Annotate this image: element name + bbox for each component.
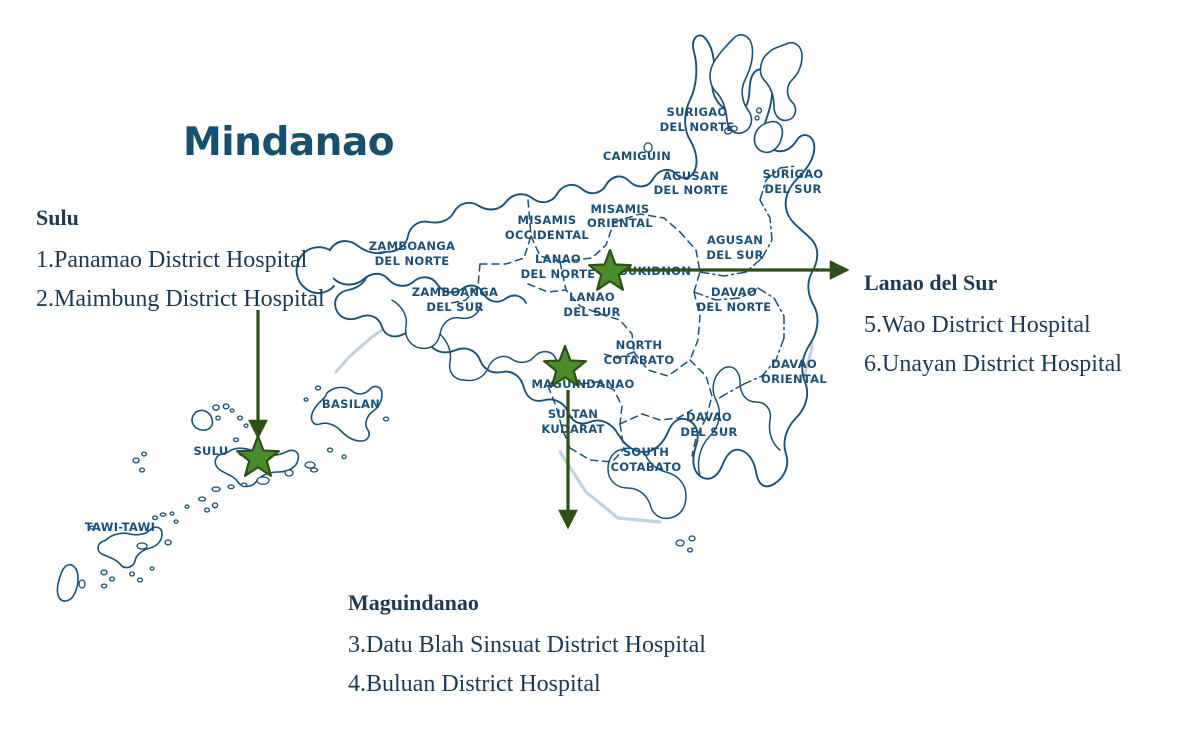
hospital-item: 2.Maimbung District Hospital: [36, 280, 325, 319]
map-infographic: .coast{fill:#ffffff;stroke:#1b5178;strok…: [0, 0, 1190, 747]
hospital-block-lanao-del-sur: Lanao del Sur 5.Wao District Hospital 6.…: [864, 268, 1122, 384]
hospital-item: 3.Datu Blah Sinsuat District Hospital: [348, 626, 706, 665]
sulu-star: [237, 436, 279, 476]
pointer-arrows: [258, 270, 847, 527]
block-header-lanao-del-sur: Lanao del Sur: [864, 268, 1122, 298]
hospital-item: 1.Panamao District Hospital: [36, 241, 325, 280]
block-header-maguindanao: Maguindanao: [348, 588, 706, 618]
hospital-item: 6.Unayan District Hospital: [864, 345, 1122, 384]
maguindanao-star: [544, 346, 586, 386]
bukidnon-star: [589, 250, 631, 290]
hospital-item: 5.Wao District Hospital: [864, 306, 1122, 345]
hospital-block-maguindanao: Maguindanao 3.Datu Blah Sinsuat District…: [348, 588, 706, 704]
hospital-block-sulu: Sulu 1.Panamao District Hospital 2.Maimb…: [36, 203, 325, 319]
block-header-sulu: Sulu: [36, 203, 325, 233]
hospital-item: 4.Buluan District Hospital: [348, 665, 706, 704]
